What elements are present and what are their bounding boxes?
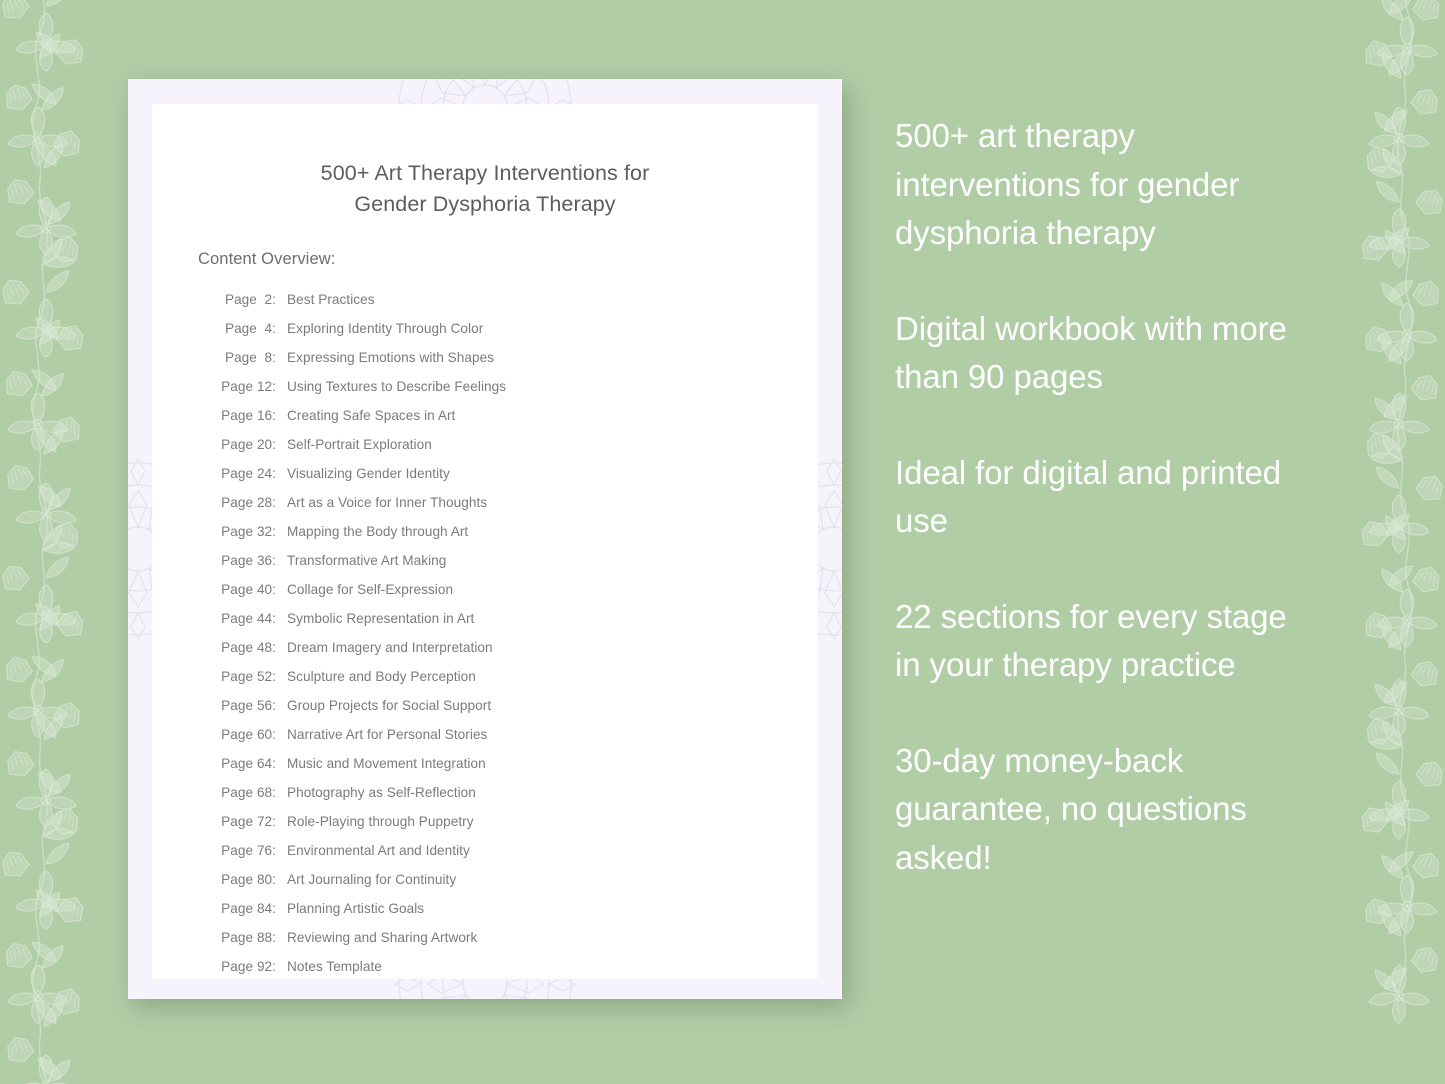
toc-page-number: Page 80: <box>220 865 276 894</box>
toc-row: Page 80:Art Journaling for Continuity <box>220 865 818 894</box>
toc-page-number: Page 84: <box>220 894 276 923</box>
toc-page-number: Page 40: <box>220 575 276 604</box>
toc-entry-title: Mapping the Body through Art <box>287 517 468 546</box>
toc-row: Page 16:Creating Safe Spaces in Art <box>220 401 818 430</box>
toc-row: Page 68:Photography as Self-Reflection <box>220 778 818 807</box>
document-page: 500+ Art Therapy Interventions for Gende… <box>152 104 818 979</box>
toc-row: Page 2:Best Practices <box>220 285 818 314</box>
toc-entry-title: Sculpture and Body Perception <box>287 662 476 691</box>
feature-item: Digital workbook with more than 90 pages <box>895 305 1315 402</box>
product-preview-card: 500+ Art Therapy Interventions for Gende… <box>128 79 842 999</box>
toc-page-number: Page 44: <box>220 604 276 633</box>
toc-entry-title: Symbolic Representation in Art <box>287 604 474 633</box>
toc-entry-title: Group Projects for Social Support <box>287 691 491 720</box>
toc-row: Page 64:Music and Movement Integration <box>220 749 818 778</box>
toc-page-number: Page 60: <box>220 720 276 749</box>
feature-item: Ideal for digital and printed use <box>895 449 1315 546</box>
toc-row: Page 28:Art as a Voice for Inner Thought… <box>220 488 818 517</box>
toc-row: Page 76:Environmental Art and Identity <box>220 836 818 865</box>
toc-entry-title: Visualizing Gender Identity <box>287 459 450 488</box>
floral-vine-right-icon <box>1315 0 1445 1084</box>
toc-entry-title: Creating Safe Spaces in Art <box>287 401 455 430</box>
toc-page-number: Page 92: <box>220 952 276 981</box>
toc-entry-title: Using Textures to Describe Feelings <box>287 372 506 401</box>
toc-entry-title: Dream Imagery and Interpretation <box>287 633 493 662</box>
toc-page-number: Page 56: <box>220 691 276 720</box>
toc-entry-title: Art Journaling for Continuity <box>287 865 456 894</box>
toc-entry-title: Role-Playing through Puppetry <box>287 807 474 836</box>
toc-page-number: Page 76: <box>220 836 276 865</box>
toc-page-number: Page 72: <box>220 807 276 836</box>
toc-row: Page 12:Using Textures to Describe Feeli… <box>220 372 818 401</box>
toc-row: Page 52:Sculpture and Body Perception <box>220 662 818 691</box>
toc-entry-title: Exploring Identity Through Color <box>287 314 483 343</box>
toc-row: Page 56:Group Projects for Social Suppor… <box>220 691 818 720</box>
floral-vine-left-icon <box>0 0 130 1084</box>
toc-row: Page 72:Role-Playing through Puppetry <box>220 807 818 836</box>
table-of-contents: Page 2:Best PracticesPage 4:Exploring Id… <box>152 269 818 981</box>
content-overview-label: Content Overview: <box>152 220 818 269</box>
toc-row: Page 20:Self-Portrait Exploration <box>220 430 818 459</box>
toc-row: Page 44:Symbolic Representation in Art <box>220 604 818 633</box>
toc-page-number: Page 24: <box>220 459 276 488</box>
toc-row: Page 84:Planning Artistic Goals <box>220 894 818 923</box>
toc-entry-title: Collage for Self-Expression <box>287 575 453 604</box>
toc-page-number: Page 68: <box>220 778 276 807</box>
toc-page-number: Page 32: <box>220 517 276 546</box>
toc-page-number: Page 64: <box>220 749 276 778</box>
toc-row: Page 88:Reviewing and Sharing Artwork <box>220 923 818 952</box>
toc-row: Page 8:Expressing Emotions with Shapes <box>220 343 818 372</box>
feature-list: 500+ art therapy interventions for gende… <box>895 112 1315 882</box>
toc-row: Page 40:Collage for Self-Expression <box>220 575 818 604</box>
page-title-line-2: Gender Dysphoria Therapy <box>212 189 758 220</box>
toc-page-number: Page 36: <box>220 546 276 575</box>
toc-entry-title: Transformative Art Making <box>287 546 446 575</box>
toc-page-number: Page 52: <box>220 662 276 691</box>
toc-row: Page 24:Visualizing Gender Identity <box>220 459 818 488</box>
feature-item: 22 sections for every stage in your ther… <box>895 593 1315 690</box>
toc-page-number: Page 12: <box>220 372 276 401</box>
toc-entry-title: Narrative Art for Personal Stories <box>287 720 487 749</box>
toc-entry-title: Environmental Art and Identity <box>287 836 470 865</box>
page-title-line-1: 500+ Art Therapy Interventions for <box>212 158 758 189</box>
toc-page-number: Page 16: <box>220 401 276 430</box>
toc-entry-title: Planning Artistic Goals <box>287 894 424 923</box>
toc-entry-title: Notes Template <box>287 952 382 981</box>
toc-page-number: Page 28: <box>220 488 276 517</box>
feature-item: 30-day money-back guarantee, no question… <box>895 737 1315 883</box>
toc-entry-title: Photography as Self-Reflection <box>287 778 476 807</box>
toc-row: Page 32:Mapping the Body through Art <box>220 517 818 546</box>
toc-entry-title: Music and Movement Integration <box>287 749 486 778</box>
toc-page-number: Page 4: <box>220 314 276 343</box>
toc-row: Page 4:Exploring Identity Through Color <box>220 314 818 343</box>
toc-entry-title: Reviewing and Sharing Artwork <box>287 923 477 952</box>
toc-row: Page 92:Notes Template <box>220 952 818 981</box>
toc-row: Page 60:Narrative Art for Personal Stori… <box>220 720 818 749</box>
toc-row: Page 48:Dream Imagery and Interpretation <box>220 633 818 662</box>
toc-row: Page 36:Transformative Art Making <box>220 546 818 575</box>
toc-page-number: Page 88: <box>220 923 276 952</box>
toc-entry-title: Expressing Emotions with Shapes <box>287 343 494 372</box>
toc-page-number: Page 20: <box>220 430 276 459</box>
toc-page-number: Page 2: <box>220 285 276 314</box>
toc-entry-title: Art as a Voice for Inner Thoughts <box>287 488 487 517</box>
feature-item: 500+ art therapy interventions for gende… <box>895 112 1315 258</box>
page-title: 500+ Art Therapy Interventions for Gende… <box>152 104 818 220</box>
toc-entry-title: Best Practices <box>287 285 375 314</box>
toc-page-number: Page 48: <box>220 633 276 662</box>
toc-page-number: Page 8: <box>220 343 276 372</box>
toc-entry-title: Self-Portrait Exploration <box>287 430 432 459</box>
